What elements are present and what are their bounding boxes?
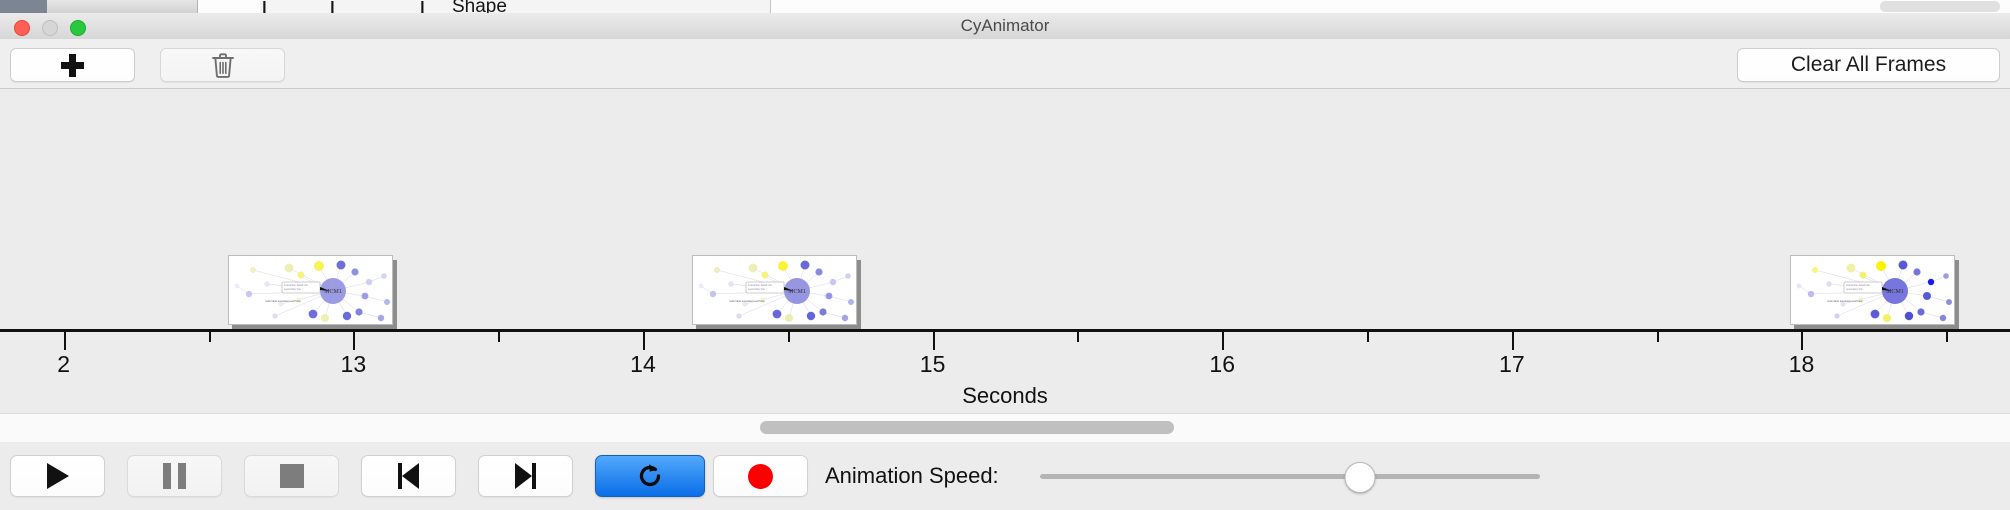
window-title: CyAnimator [0,13,2010,39]
axis-tick-minor [209,332,211,342]
svg-text:node label annotation text her: node label annotation text here [729,299,765,303]
axis-tick-label: 17 [1499,351,1525,378]
background-sidebar [0,0,47,13]
timeline-scrollbar[interactable] [0,413,2010,443]
frame-thumbnail[interactable]: interaction detail info secondary line M… [692,255,857,325]
axis-title: Seconds [0,383,2010,409]
axis-tick-major [64,332,66,350]
frame-thumbnail[interactable]: interaction detail info secondary line M… [228,255,393,325]
loop-icon [635,461,665,491]
svg-text:interaction detail info: interaction detail info [748,283,772,287]
skip-to-start-icon [398,463,419,489]
svg-text:secondary line: secondary line [748,287,765,291]
slider-thumb[interactable] [1345,462,1376,493]
pause-button[interactable] [127,455,222,497]
animation-speed-label: Animation Speed: [825,455,999,497]
axis-tick-minor [788,332,790,342]
play-button[interactable] [10,455,105,497]
axis-tick-major [1512,332,1514,350]
slider-track[interactable] [1040,474,1540,479]
axis-tick-minor [1657,332,1659,342]
background-window-text: Shape [452,0,507,14]
svg-text:interaction detail info: interaction detail info [284,283,308,287]
axis-tick-major [933,332,935,350]
skip-to-start-button[interactable] [361,455,456,497]
background-tab-3 [500,0,611,13]
clear-all-frames-label: Clear All Frames [1791,53,1946,77]
svg-text:secondary line: secondary line [284,287,301,291]
plus-icon [61,54,84,77]
record-button[interactable] [713,455,808,497]
svg-text:MCM1: MCM1 [1886,289,1904,295]
svg-text:secondary line: secondary line [1846,287,1863,291]
axis-tick-label: 16 [1209,351,1235,378]
svg-text:node label annotation text her: node label annotation text here [1827,299,1863,303]
axis-tick-major [353,332,355,350]
stop-button[interactable] [244,455,339,497]
axis-tick-minor [1077,332,1079,342]
axis-tick-minor [1946,332,1948,342]
axis-tick-minor [1367,332,1369,342]
network-graph-thumbnail: interaction detail info secondary line M… [693,256,856,324]
background-tab-4 [610,0,771,13]
timeline-panel[interactable]: interaction detail info secondary line M… [0,89,2010,413]
axis-tick-label: 13 [341,351,367,378]
timeline-axis [0,329,2010,332]
svg-text:node label annotation text her: node label annotation text here [265,299,301,303]
skip-to-end-button[interactable] [478,455,573,497]
title-bar: CyAnimator [0,13,2010,40]
delete-frame-button[interactable] [160,48,285,82]
axis-tick-major [1801,332,1803,350]
background-toolbar-chunk [47,0,198,13]
scrollbar-thumb[interactable] [760,421,1174,434]
svg-text:MCM1: MCM1 [788,289,806,295]
background-window-strip: | | | Shape [0,0,2010,14]
clear-all-frames-button[interactable]: Clear All Frames [1737,48,2000,82]
skip-to-end-icon [515,463,536,489]
background-scrollbar[interactable] [1880,1,2000,12]
loop-button[interactable] [595,455,705,497]
svg-text:interaction detail info: interaction detail info [1846,283,1870,287]
frame-thumbnail[interactable]: interaction detail info secondary line M… [1790,255,1955,325]
add-frame-button[interactable] [10,48,135,82]
animation-speed-slider[interactable] [1040,455,1540,497]
axis-tick-label: 18 [1789,351,1815,378]
svg-text:MCM1: MCM1 [324,289,342,295]
pause-icon [163,463,186,489]
axis-tick-major [1222,332,1224,350]
trash-icon [210,51,236,79]
stop-icon [280,464,304,488]
axis-tick-label: 14 [630,351,656,378]
axis-tick-major [643,332,645,350]
playback-toolbar: Animation Speed: [0,442,2010,510]
cyanimator-window: | | | Shape CyAnimator Clear All Frames [0,0,2010,510]
axis-tick-label: 15 [920,351,946,378]
network-graph-thumbnail: interaction detail info secondary line M… [1791,256,1954,324]
network-graph-thumbnail: interaction detail info secondary line M… [229,256,392,324]
toolbar: Clear All Frames [0,39,2010,89]
axis-tick-label: 2 [57,351,70,378]
axis-tick-minor [498,332,500,342]
play-icon [47,463,69,489]
record-icon [748,464,773,489]
